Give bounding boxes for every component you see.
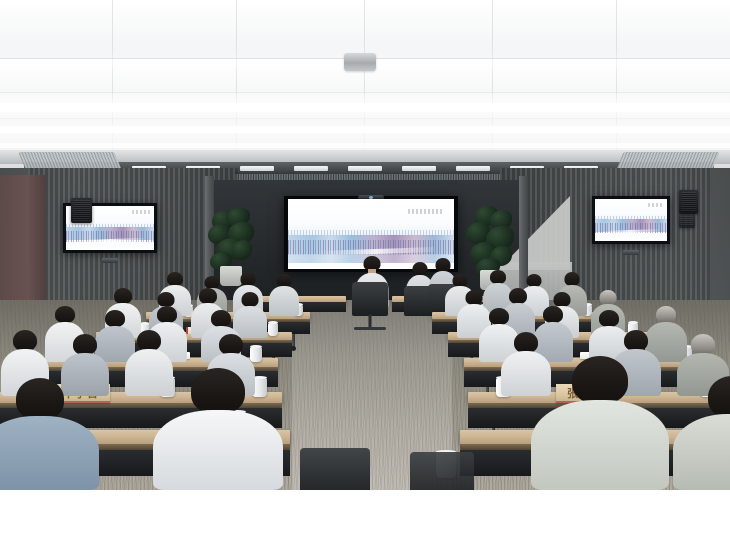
office-chair [410,452,474,490]
screen-brand-badge [623,250,639,255]
attendee [0,378,100,490]
attendee [672,376,730,490]
wall-speaker-icon [679,190,698,214]
teacup [268,323,278,336]
conference-room-photo: 中子台 张建华 [0,0,730,490]
attendee [530,356,670,490]
ceiling-light-strip [0,126,730,133]
right-led-monitor[interactable] [592,196,670,244]
attendee [152,368,284,490]
ceiling-projector-icon [344,53,376,71]
screen-brand-badge [102,258,118,263]
office-chair [352,282,388,316]
office-chair [300,448,370,490]
screen-watermark-logo [408,209,445,214]
wall-speaker-icon [71,198,92,223]
ceiling [0,0,730,175]
wall-speaker-icon [679,214,695,228]
ceiling-light-strip [0,143,730,148]
attendee [268,274,300,316]
left-wall-accent-panel [0,175,46,310]
page-margin [0,490,730,548]
ceiling-light-strip [0,103,730,112]
